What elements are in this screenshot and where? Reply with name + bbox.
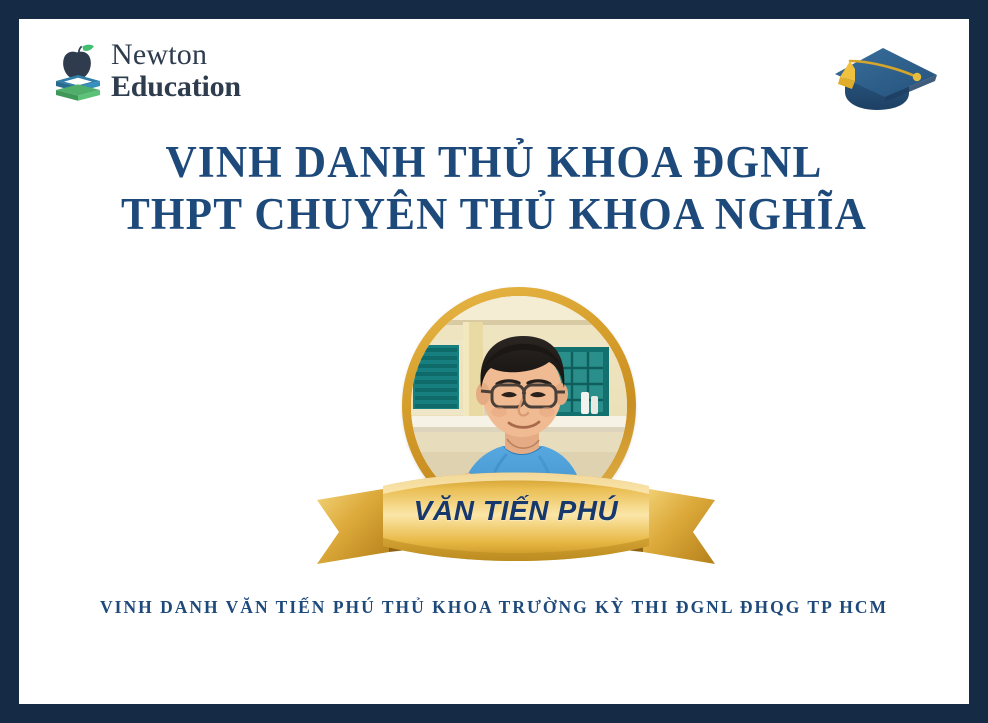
graduation-cap-icon xyxy=(825,31,941,123)
poster-frame: Newton Education xyxy=(0,0,988,723)
brand-logo: Newton Education xyxy=(52,37,241,105)
brand-line-1: Newton xyxy=(111,40,241,70)
title-line-2: THPT CHUYÊN THỦ KHOA NGHĨA xyxy=(38,188,950,240)
brand-wordmark: Newton Education xyxy=(111,40,241,102)
name-ribbon: VĂN TIẾN PHÚ xyxy=(311,466,721,574)
honoree-name: VĂN TIẾN PHÚ xyxy=(311,495,721,527)
brand-line-2: Education xyxy=(111,72,241,102)
poster-card: Newton Education xyxy=(19,19,969,704)
apple-on-books-icon xyxy=(52,37,104,105)
title-line-1: VINH DANH THỦ KHOA ĐGNL xyxy=(38,136,950,188)
poster-title: VINH DANH THỦ KHOA ĐGNL THPT CHUYÊN THỦ … xyxy=(38,136,950,240)
poster-caption: VINH DANH VĂN TIẾN PHÚ THỦ KHOA TRƯỜNG K… xyxy=(19,597,969,618)
